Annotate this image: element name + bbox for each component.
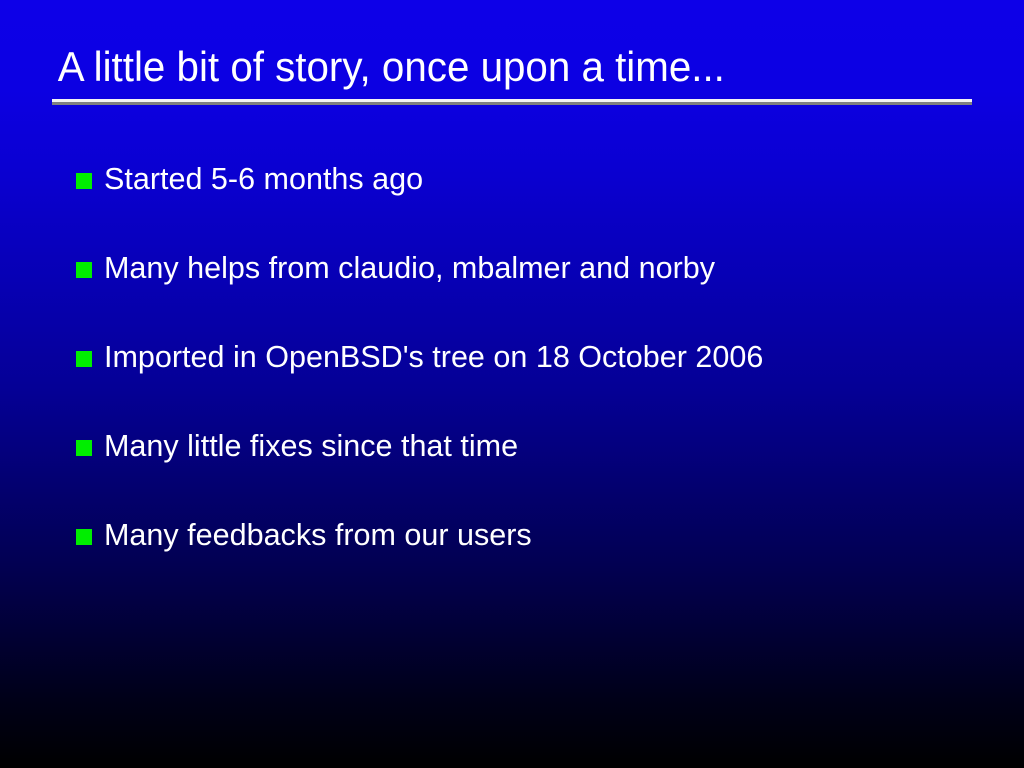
list-item-label: Many little fixes since that time: [104, 427, 518, 465]
list-item-label: Many feedbacks from our users: [104, 516, 532, 554]
page-title: A little bit of story, once upon a time.…: [52, 44, 935, 90]
list-item-label: Imported in OpenBSD's tree on 18 October…: [104, 338, 763, 376]
list-item: Many helps from claudio, mbalmer and nor…: [76, 249, 1006, 338]
square-bullet-icon: [76, 173, 92, 189]
square-bullet-icon: [76, 529, 92, 545]
list-item: Many little fixes since that time: [76, 427, 1006, 516]
square-bullet-icon: [76, 262, 92, 278]
presentation-slide: A little bit of story, once upon a time.…: [0, 0, 1024, 768]
square-bullet-icon: [76, 440, 92, 456]
list-item: Imported in OpenBSD's tree on 18 October…: [76, 338, 1006, 427]
list-item: Started 5-6 months ago: [76, 160, 1006, 249]
bullet-list: Started 5-6 months ago Many helps from c…: [76, 160, 1006, 605]
square-bullet-icon: [76, 351, 92, 367]
title-divider-shadow: [52, 102, 972, 105]
list-item-label: Many helps from claudio, mbalmer and nor…: [104, 249, 715, 287]
slide-title-block: A little bit of story, once upon a time.…: [52, 44, 972, 90]
list-item-label: Started 5-6 months ago: [104, 160, 423, 198]
list-item: Many feedbacks from our users: [76, 516, 1006, 605]
title-divider: [52, 99, 972, 105]
